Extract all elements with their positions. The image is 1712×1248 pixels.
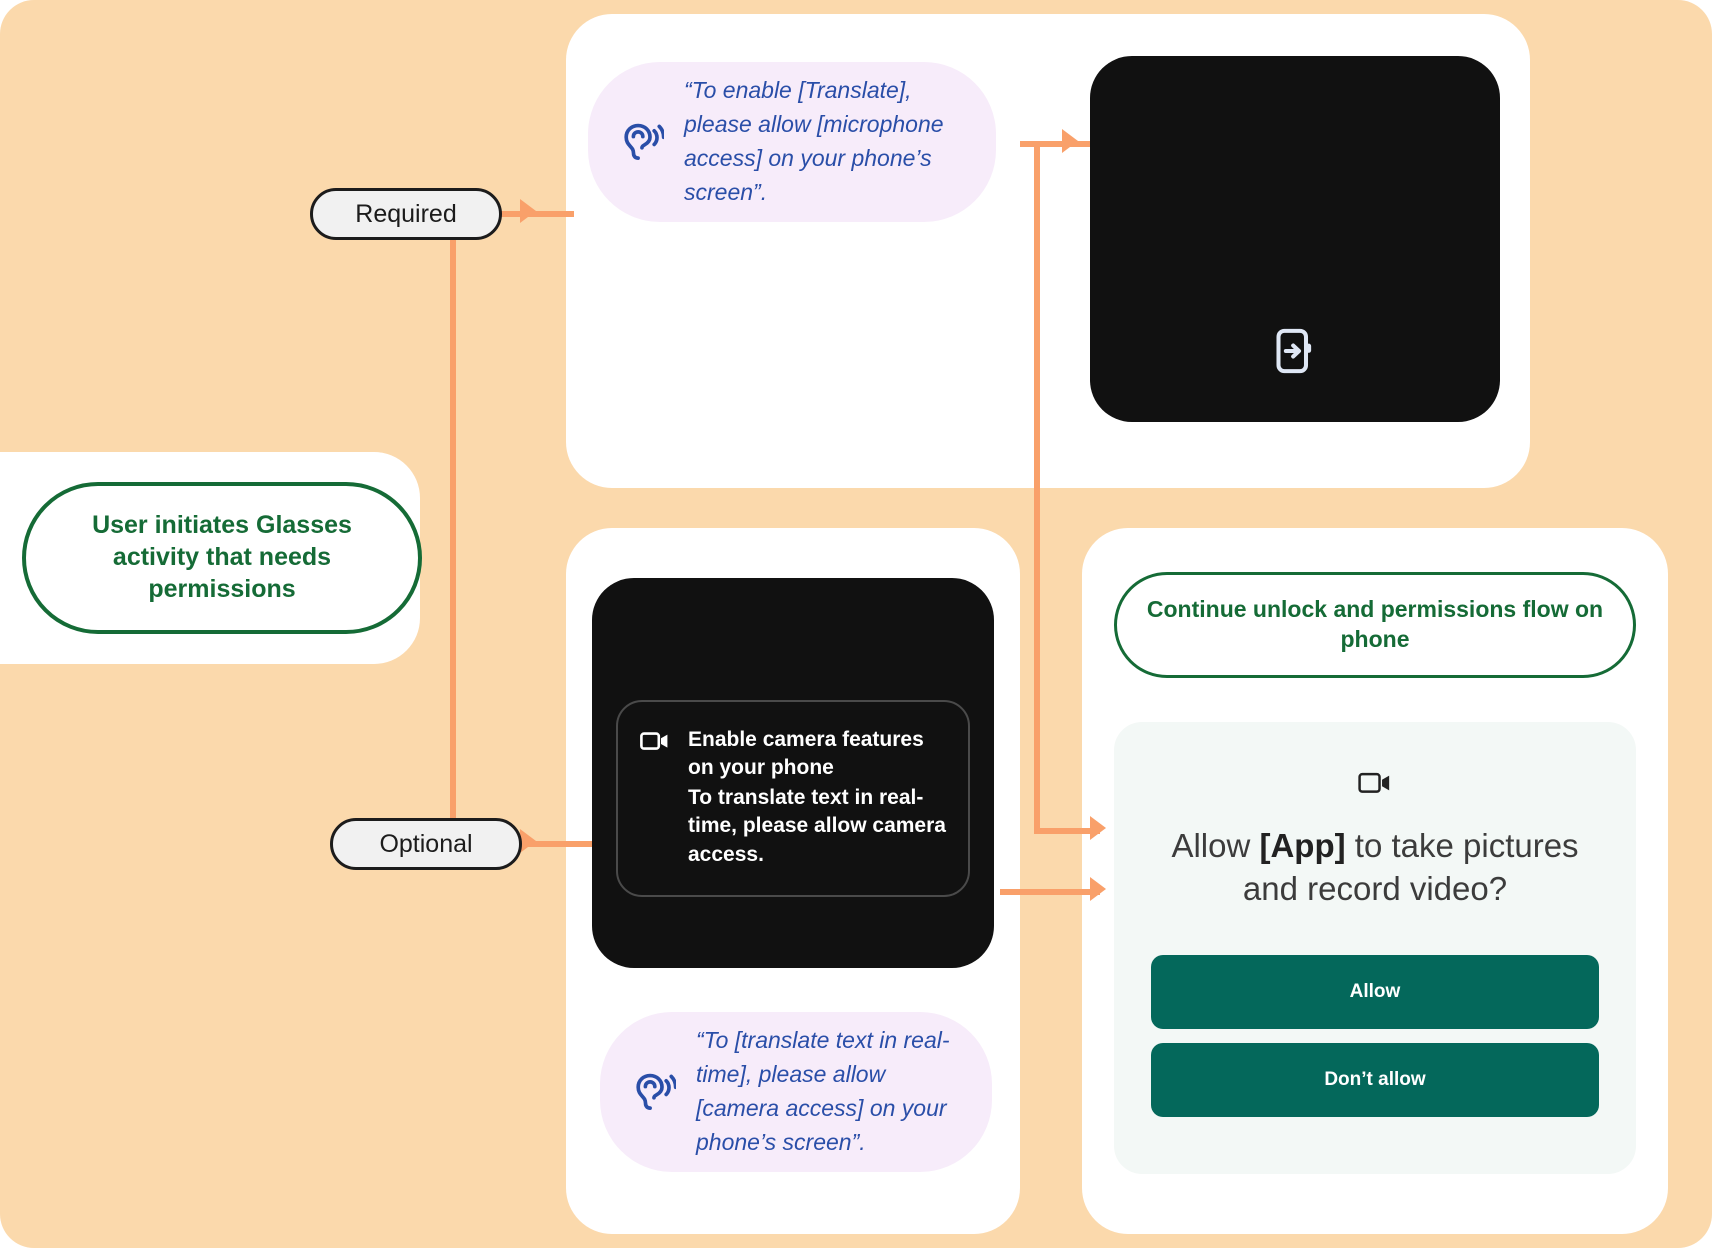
- speech-bubble-camera: “To [translate text in real-time], pleas…: [600, 1012, 992, 1172]
- video-camera-icon: [640, 730, 670, 752]
- speech-bubble-camera-text: “To [translate text in real-time], pleas…: [696, 1024, 958, 1159]
- arrow-head-bubble-to-glasses: [1062, 129, 1078, 153]
- branch-pill-optional-label: Optional: [379, 830, 472, 859]
- glasses-display-unlock: [1090, 56, 1500, 422]
- connector-camera-to-result: [1000, 889, 1100, 895]
- permission-dialog-title: Allow [App] to take pictures and record …: [1142, 825, 1608, 911]
- glasses-camera-title: Enable camera features on your phone: [688, 726, 946, 782]
- result-node-label: Continue unlock and permissions flow on …: [1117, 595, 1633, 655]
- speech-bubble-microphone: “To enable [Translate], please allow [mi…: [588, 62, 996, 222]
- dont-allow-button[interactable]: Don’t allow: [1151, 1043, 1599, 1117]
- diagram-canvas: User initiates Glasses activity that nee…: [0, 0, 1712, 1248]
- permission-dialog-title-prefix: Allow: [1171, 827, 1259, 864]
- arrow-head-optional-out: [520, 829, 536, 853]
- arrow-head-required-out: [520, 199, 536, 223]
- connector-drop-vertical: [1034, 144, 1040, 828]
- video-camera-icon: [1358, 770, 1392, 796]
- ear-hearing-icon: [622, 121, 664, 163]
- glasses-camera-notification: Enable camera features on your phone To …: [616, 700, 970, 897]
- connector-required-out: [502, 211, 574, 217]
- start-node: User initiates Glasses activity that nee…: [22, 482, 422, 634]
- phone-unlock-icon: [1273, 326, 1317, 376]
- allow-button[interactable]: Allow: [1151, 955, 1599, 1029]
- ear-hearing-icon: [634, 1071, 676, 1113]
- speech-bubble-microphone-text: “To enable [Translate], please allow [mi…: [684, 74, 962, 209]
- connector-spine-vertical: [450, 214, 456, 844]
- result-node: Continue unlock and permissions flow on …: [1114, 572, 1636, 678]
- branch-pill-required-label: Required: [355, 200, 456, 229]
- branch-pill-required[interactable]: Required: [310, 188, 502, 240]
- arrow-head-drop-to-result: [1090, 816, 1106, 840]
- phone-permission-dialog: Allow [App] to take pictures and record …: [1114, 722, 1636, 1174]
- arrow-head-camera-to-result: [1090, 877, 1106, 901]
- glasses-camera-body: To translate text in real-time, please a…: [688, 784, 946, 868]
- glasses-display-camera: Enable camera features on your phone To …: [592, 578, 994, 968]
- start-node-label: User initiates Glasses activity that nee…: [26, 510, 418, 605]
- permission-dialog-app-name: [App]: [1259, 827, 1345, 864]
- branch-pill-optional[interactable]: Optional: [330, 818, 522, 870]
